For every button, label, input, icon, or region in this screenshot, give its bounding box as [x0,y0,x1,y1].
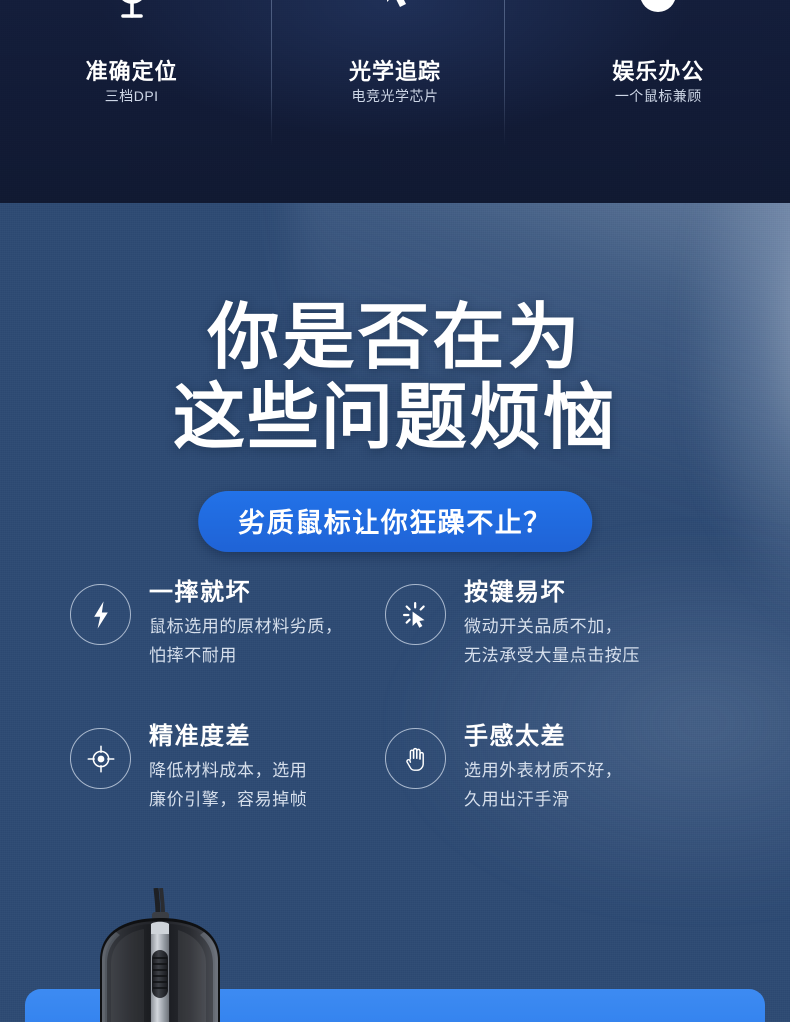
mouse-top-icon [630,0,686,28]
top-feature-title-3: 娱乐办公 [612,54,704,86]
problem-title-2: 按键易坏 [464,578,640,608]
top-feature-column-1: 准确定位 三档DPI [0,0,263,203]
top-feature-columns: 准确定位 三档DPI 光学追踪 电竞光学芯片 娱乐办公 一个 [0,0,790,203]
top-column-divider-2 [504,0,505,146]
top-feature-column-3: 娱乐办公 一个鼠标兼顾 [527,0,790,203]
crosshair-target-icon [70,728,131,789]
problem-item-3: 精准度差 降低材料成本，选用 廉价引擎，容易掉帧 [0,722,375,814]
dpi-target-icon [104,0,160,28]
cursor-arrow-icon [367,0,423,28]
product-mouse-image [78,888,263,1022]
top-feature-subtitle-2: 电竞光学芯片 [351,86,438,106]
problem-text-3: 精准度差 降低材料成本，选用 廉价引擎，容易掉帧 [149,722,307,814]
problem-title-1: 一摔就坏 [149,578,343,608]
problem-row-1: 一摔就坏 鼠标选用的原材料劣质， 怕摔不耐用 [0,578,790,670]
product-detail-page: 准确定位 三档DPI 光学追踪 电竞光学芯片 娱乐办公 一个 [0,0,790,1022]
click-cursor-icon [385,584,446,645]
problem-title-4: 手感太差 [464,722,622,752]
top-feature-column-2: 光学追踪 电竞光学芯片 [263,0,526,203]
problem-row-2: 精准度差 降低材料成本，选用 廉价引擎，容易掉帧 手感 [0,722,790,814]
problem-text-4: 手感太差 选用外表材质不好， 久用出汗手滑 [464,722,622,814]
problem-desc-3: 降低材料成本，选用 廉价引擎，容易掉帧 [149,756,307,814]
subheadline-pill[interactable]: 劣质鼠标让你狂躁不止？ [198,491,592,552]
open-hand-icon [385,728,446,789]
top-column-divider-1 [271,0,272,146]
problem-desc-4: 选用外表材质不好， 久用出汗手滑 [464,756,622,814]
lightning-bolt-icon [70,584,131,645]
problem-desc-2: 微动开关品质不加， 无法承受大量点击按压 [464,612,640,670]
top-feature-title-2: 光学追踪 [349,54,441,86]
section-headline: 你是否在为 这些问题烦恼 [0,298,790,458]
problem-title-3: 精准度差 [149,722,307,752]
problem-item-2: 按键易坏 微动开关品质不加， 无法承受大量点击按压 [375,578,790,670]
headline-line-1: 你是否在为 [0,298,790,378]
problem-item-1: 一摔就坏 鼠标选用的原材料劣质， 怕摔不耐用 [0,578,375,670]
top-feature-subtitle-3: 一个鼠标兼顾 [615,86,702,106]
problem-text-1: 一摔就坏 鼠标选用的原材料劣质， 怕摔不耐用 [149,578,343,670]
top-feature-subtitle-1: 三档DPI [105,86,159,106]
problem-desc-1: 鼠标选用的原材料劣质， 怕摔不耐用 [149,612,343,670]
top-feature-title-1: 准确定位 [86,54,178,86]
problem-feature-grid: 一摔就坏 鼠标选用的原材料劣质， 怕摔不耐用 [0,578,790,814]
headline-line-2: 这些问题烦恼 [0,378,790,458]
problem-item-4: 手感太差 选用外表材质不好， 久用出汗手滑 [375,722,790,814]
problem-text-2: 按键易坏 微动开关品质不加， 无法承受大量点击按压 [464,578,640,670]
